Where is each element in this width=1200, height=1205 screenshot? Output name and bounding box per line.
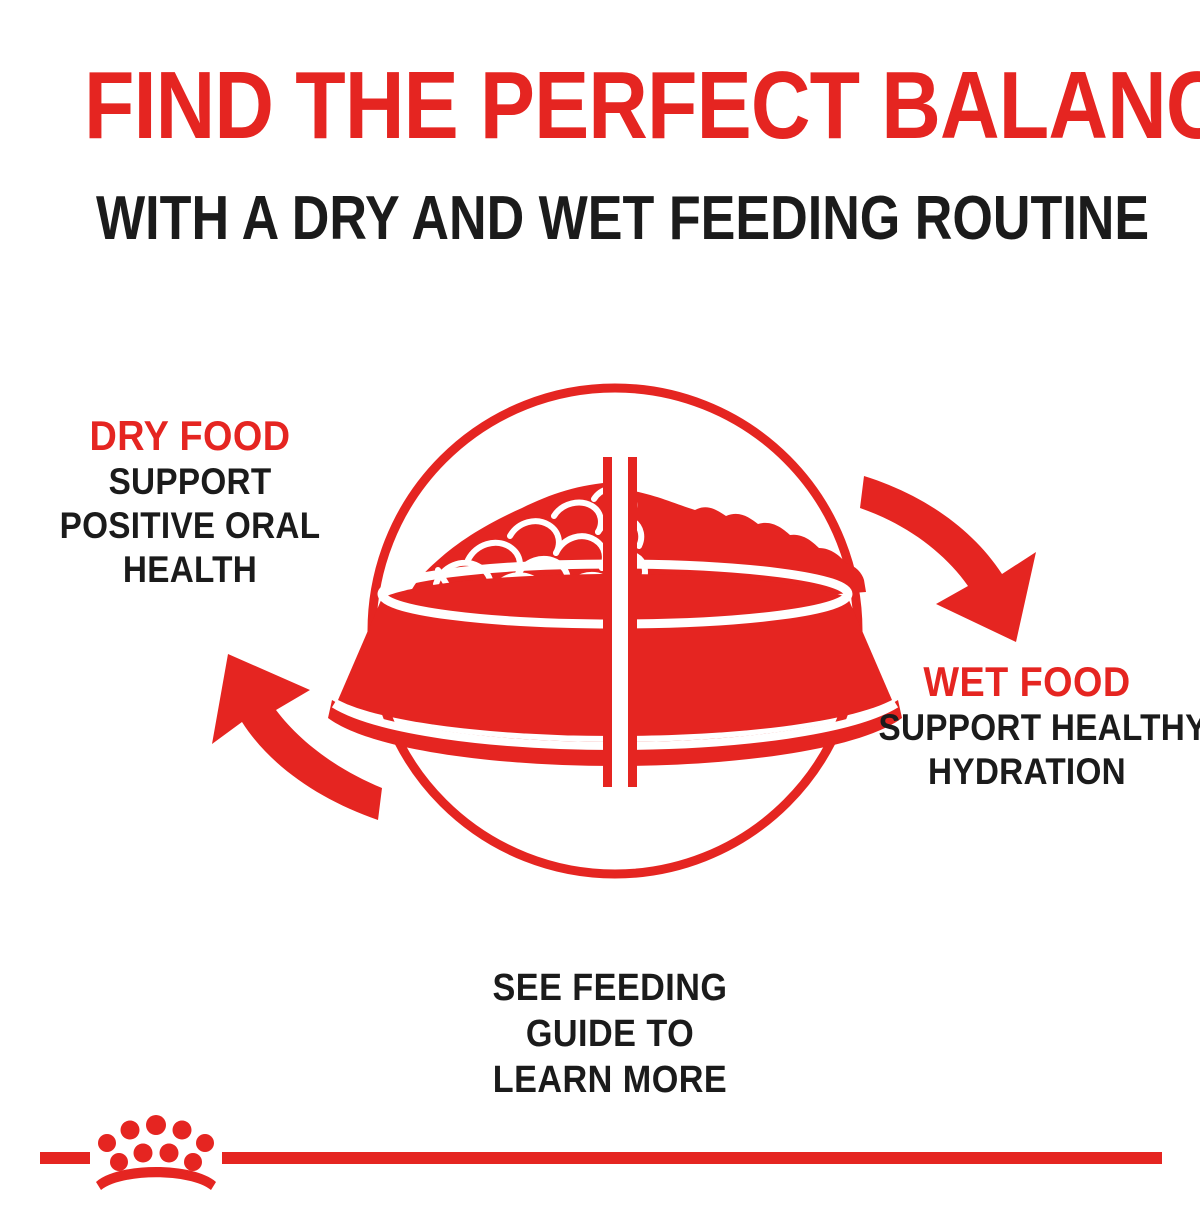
callout-wet-title: WET FOOD (879, 658, 1176, 706)
callout-dry-line-1: SUPPORT (37, 460, 343, 504)
horizontal-rule-icon (40, 1152, 1162, 1164)
callout-dry-line-2: POSITIVE ORAL (37, 504, 343, 548)
caption-line-1: SEE FEEDING (412, 965, 808, 1011)
royal-canin-crown-icon (96, 1115, 216, 1190)
caption-line-3: LEARN MORE (412, 1057, 808, 1103)
vertical-split-divider-icon (603, 457, 637, 787)
callout-wet-line-2: HYDRATION (879, 750, 1176, 794)
page-subtitle: WITH A DRY AND WET FEEDING ROUTINE (96, 188, 1104, 250)
curved-arrow-down-right-icon (860, 476, 1036, 642)
footer-brand-bar (0, 1100, 1200, 1200)
page-title: FIND THE PERFECT BALANCE (84, 58, 1116, 154)
callout-dry-line-3: HEALTH (37, 548, 343, 592)
feeding-guide-caption: SEE FEEDING GUIDE TO LEARN MORE (390, 965, 830, 1103)
caption-line-2: GUIDE TO (412, 1011, 808, 1057)
callout-dry-food: DRY FOOD SUPPORT POSITIVE ORAL HEALTH (20, 412, 360, 592)
infographic-canvas: FIND THE PERFECT BALANCE WITH A DRY AND … (0, 0, 1200, 1200)
callout-wet-food: WET FOOD SUPPORT HEALTHY HYDRATION (862, 658, 1192, 794)
callout-wet-line-1: SUPPORT HEALTHY (879, 706, 1176, 750)
callout-dry-title: DRY FOOD (37, 412, 343, 460)
